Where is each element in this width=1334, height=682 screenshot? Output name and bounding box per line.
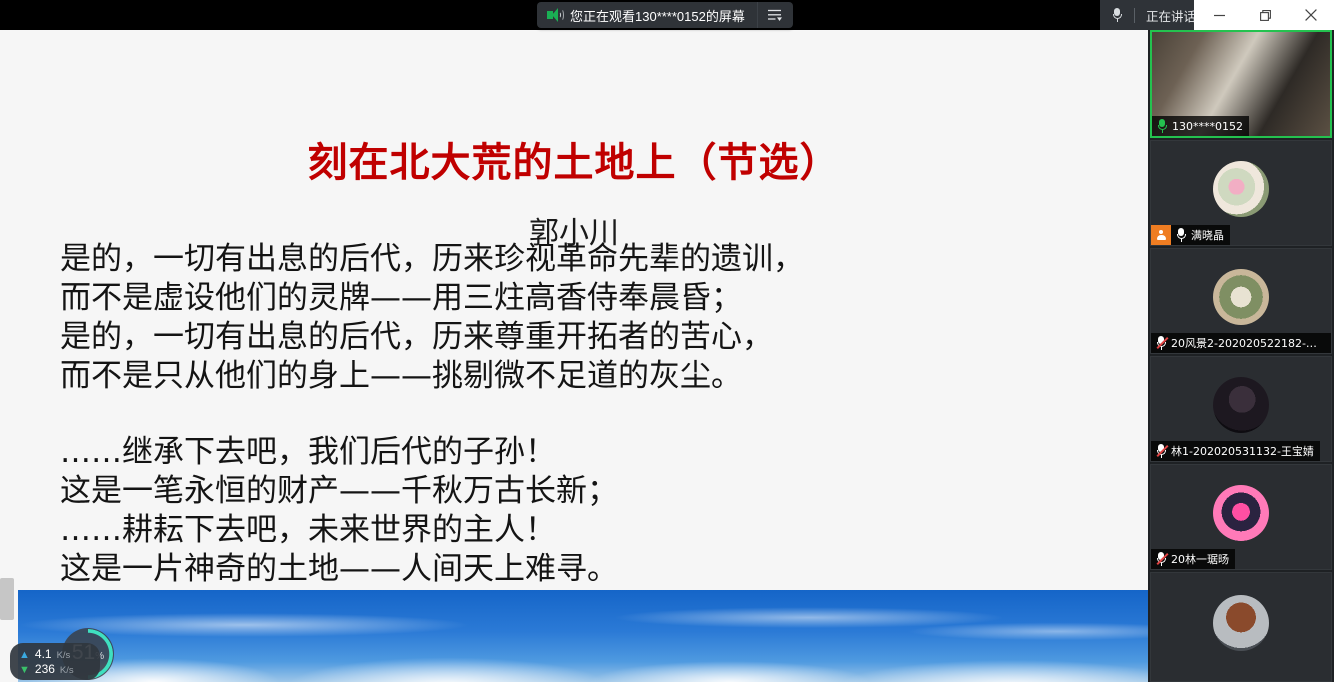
poem-line: ……耕耘下去吧，未来世界的主人！ bbox=[60, 511, 1100, 550]
download-rate-value: 236 bbox=[35, 662, 55, 676]
restore-button[interactable] bbox=[1242, 0, 1288, 30]
slide-title: 刻在北大荒的土地上（节选） bbox=[0, 130, 1148, 188]
avatar bbox=[1213, 595, 1269, 651]
avatar bbox=[1213, 377, 1269, 433]
participant-name: 20风景2-202020522182-王... bbox=[1171, 335, 1331, 351]
speaking-mic-wrap bbox=[1100, 8, 1134, 22]
poem-line: 这是一片神奇的土地——人间天上难寻。 bbox=[60, 550, 1100, 589]
speaker-icon bbox=[547, 8, 563, 22]
participant-panel[interactable]: 130****0152满晓晶20风景2-202020522182-王...林1-… bbox=[1148, 30, 1334, 682]
participant-tile[interactable]: 满晓晶 bbox=[1150, 140, 1332, 246]
share-status: 您正在观看130****0152的屏幕 bbox=[537, 2, 757, 28]
poem-stanza-2: ……继承下去吧，我们后代的子孙！ 这是一笔永恒的财产——千秋万古长新； ……耕耘… bbox=[60, 433, 1100, 589]
restore-icon bbox=[1260, 10, 1271, 21]
participant-tile[interactable]: 20林一琚旸 bbox=[1150, 464, 1332, 570]
poem-line: 是的，一切有出息的后代，历来尊重开拓者的苦心， bbox=[60, 318, 1100, 357]
microphone-muted-icon bbox=[1151, 336, 1171, 350]
poem-body: 是的，一切有出息的后代，历来珍视革命先辈的遗训， 而不是虚设他们的灵牌——用三炷… bbox=[60, 240, 1100, 589]
arrow-down-icon: ▼ bbox=[19, 665, 30, 676]
participant-tile[interactable]: 20风景2-202020522182-王... bbox=[1150, 248, 1332, 354]
slide-scroll-handle[interactable] bbox=[0, 578, 14, 620]
screen-share-toolbar: 您正在观看130****0152的屏幕 bbox=[537, 2, 793, 28]
download-rate-unit: K/s bbox=[60, 665, 74, 676]
poem-line: ……继承下去吧，我们后代的子孙！ bbox=[60, 433, 1100, 472]
avatar bbox=[1213, 269, 1269, 325]
window-controls bbox=[1194, 0, 1334, 30]
minimize-button[interactable] bbox=[1196, 0, 1242, 30]
microphone-icon bbox=[1113, 8, 1122, 22]
arrow-up-icon: ▲ bbox=[19, 650, 30, 661]
avatar bbox=[1213, 161, 1269, 217]
presentation-slide: 刻在北大荒的土地上（节选） 郭小川 是的，一切有出息的后代，历来珍视革命先辈的遗… bbox=[0, 30, 1148, 682]
minimize-icon bbox=[1214, 10, 1225, 21]
participant-name: 满晓晶 bbox=[1191, 227, 1230, 243]
stanza-gap bbox=[60, 396, 1100, 433]
microphone-icon bbox=[1152, 119, 1172, 133]
slide-sky-image bbox=[18, 590, 1148, 682]
poem-line: 这是一笔永恒的财产——千秋万古长新； bbox=[60, 472, 1100, 511]
share-status-text: 您正在观看130****0152的屏幕 bbox=[570, 6, 745, 25]
participant-namebar: 20风景2-202020522182-王... bbox=[1151, 333, 1331, 353]
participant-namebar: 130****0152 bbox=[1152, 116, 1249, 136]
participant-tile[interactable]: 130****0152 bbox=[1150, 30, 1332, 138]
upload-rate-row: ▲ 4.1 K/s bbox=[19, 647, 74, 661]
avatar bbox=[1213, 485, 1269, 541]
participant-name: 林1-202020531132-王宝婧 bbox=[1171, 443, 1320, 459]
poem-line: 而不是只从他们的身上——挑剔微不足道的灰尘。 bbox=[60, 357, 1100, 396]
menu-list-icon bbox=[767, 8, 783, 22]
download-rate-row: ▼ 236 K/s bbox=[19, 662, 74, 676]
microphone-muted-icon bbox=[1151, 552, 1171, 566]
participant-tile[interactable]: 林1-202020531132-王宝婧 bbox=[1150, 356, 1332, 462]
participant-name: 130****0152 bbox=[1172, 120, 1249, 133]
shared-screen-viewport[interactable]: 刻在北大荒的土地上（节选） 郭小川 是的，一切有出息的后代，历来珍视革命先辈的遗… bbox=[0, 30, 1148, 682]
microphone-icon bbox=[1171, 228, 1191, 242]
poem-stanza-1: 是的，一切有出息的后代，历来珍视革命先辈的遗训， 而不是虚设他们的灵牌——用三炷… bbox=[60, 240, 1100, 396]
participant-name: 20林一琚旸 bbox=[1171, 551, 1235, 567]
poem-line: 而不是虚设他们的灵牌——用三炷高香侍奉晨昏； bbox=[60, 279, 1100, 318]
poem-line: 是的，一切有出息的后代，历来珍视革命先辈的遗训， bbox=[60, 240, 1100, 279]
upload-rate-unit: K/s bbox=[57, 650, 71, 661]
upload-rate-value: 4.1 bbox=[35, 647, 52, 661]
participant-namebar: 林1-202020531132-王宝婧 bbox=[1151, 441, 1320, 461]
participant-namebar: 满晓晶 bbox=[1151, 225, 1230, 245]
network-speed-widget[interactable]: ▲ 4.1 K/s ▼ 236 K/s bbox=[10, 643, 100, 680]
close-button[interactable] bbox=[1288, 0, 1334, 30]
microphone-muted-icon bbox=[1151, 444, 1171, 458]
participant-namebar: 20林一琚旸 bbox=[1151, 549, 1235, 569]
close-icon bbox=[1305, 9, 1317, 21]
participant-tile[interactable] bbox=[1150, 572, 1332, 682]
toolbar-menu-button[interactable] bbox=[757, 2, 793, 28]
host-person-icon bbox=[1151, 225, 1171, 245]
network-rates: ▲ 4.1 K/s ▼ 236 K/s bbox=[10, 643, 100, 680]
